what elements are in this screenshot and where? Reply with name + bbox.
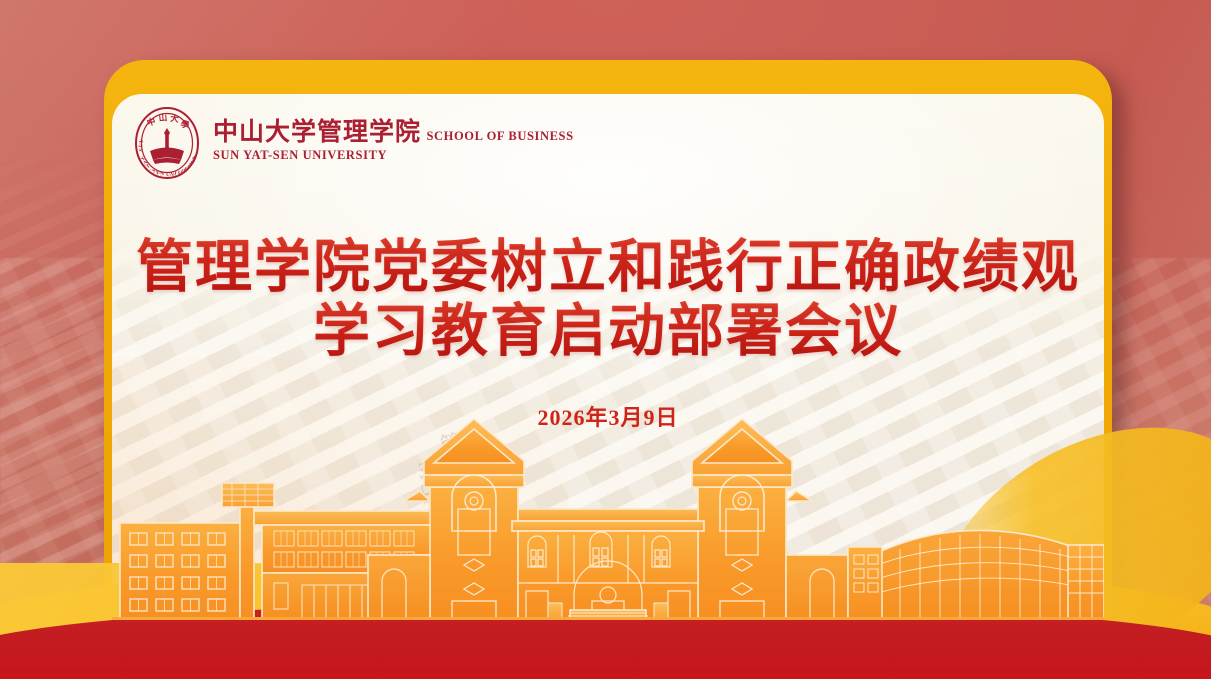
brand-text-block: 中山大学管理学院 SCHOOL OF BUSINESS SUN YAT-SEN …: [213, 120, 574, 166]
meeting-date: 2026年3月9日: [112, 400, 1104, 432]
brand-name-en-line1: SCHOOL OF BUSINESS: [426, 129, 573, 143]
svg-text:中: 中: [146, 116, 157, 128]
slide-title: 管理学院党委树立和践行正确政绩观 学习教育启动部署会议: [112, 236, 1104, 364]
sun-yat-sen-university-seal-icon: 中 山 大 學 S U N Y A T - S: [134, 106, 200, 180]
slide-title-line-1: 管理学院党委树立和践行正确政绩观: [112, 236, 1104, 300]
campus-skyline-illustration: [112, 405, 1104, 620]
svg-text:大: 大: [170, 113, 180, 124]
slide-title-line-2: 学习教育启动部署会议: [112, 300, 1104, 364]
presentation-slide: 管理学院 MBA: [0, 0, 1211, 679]
content-card: 管理学院 MBA: [112, 94, 1104, 620]
svg-text:N: N: [160, 171, 165, 177]
svg-text:山: 山: [158, 112, 168, 123]
brand-name-cn: 中山大学管理学院: [213, 119, 421, 146]
brand-name-en-line2: SUN YAT-SEN UNIVERSITY: [213, 148, 387, 162]
brand-lockup: 中 山 大 學 S U N Y A T - S: [134, 106, 574, 180]
